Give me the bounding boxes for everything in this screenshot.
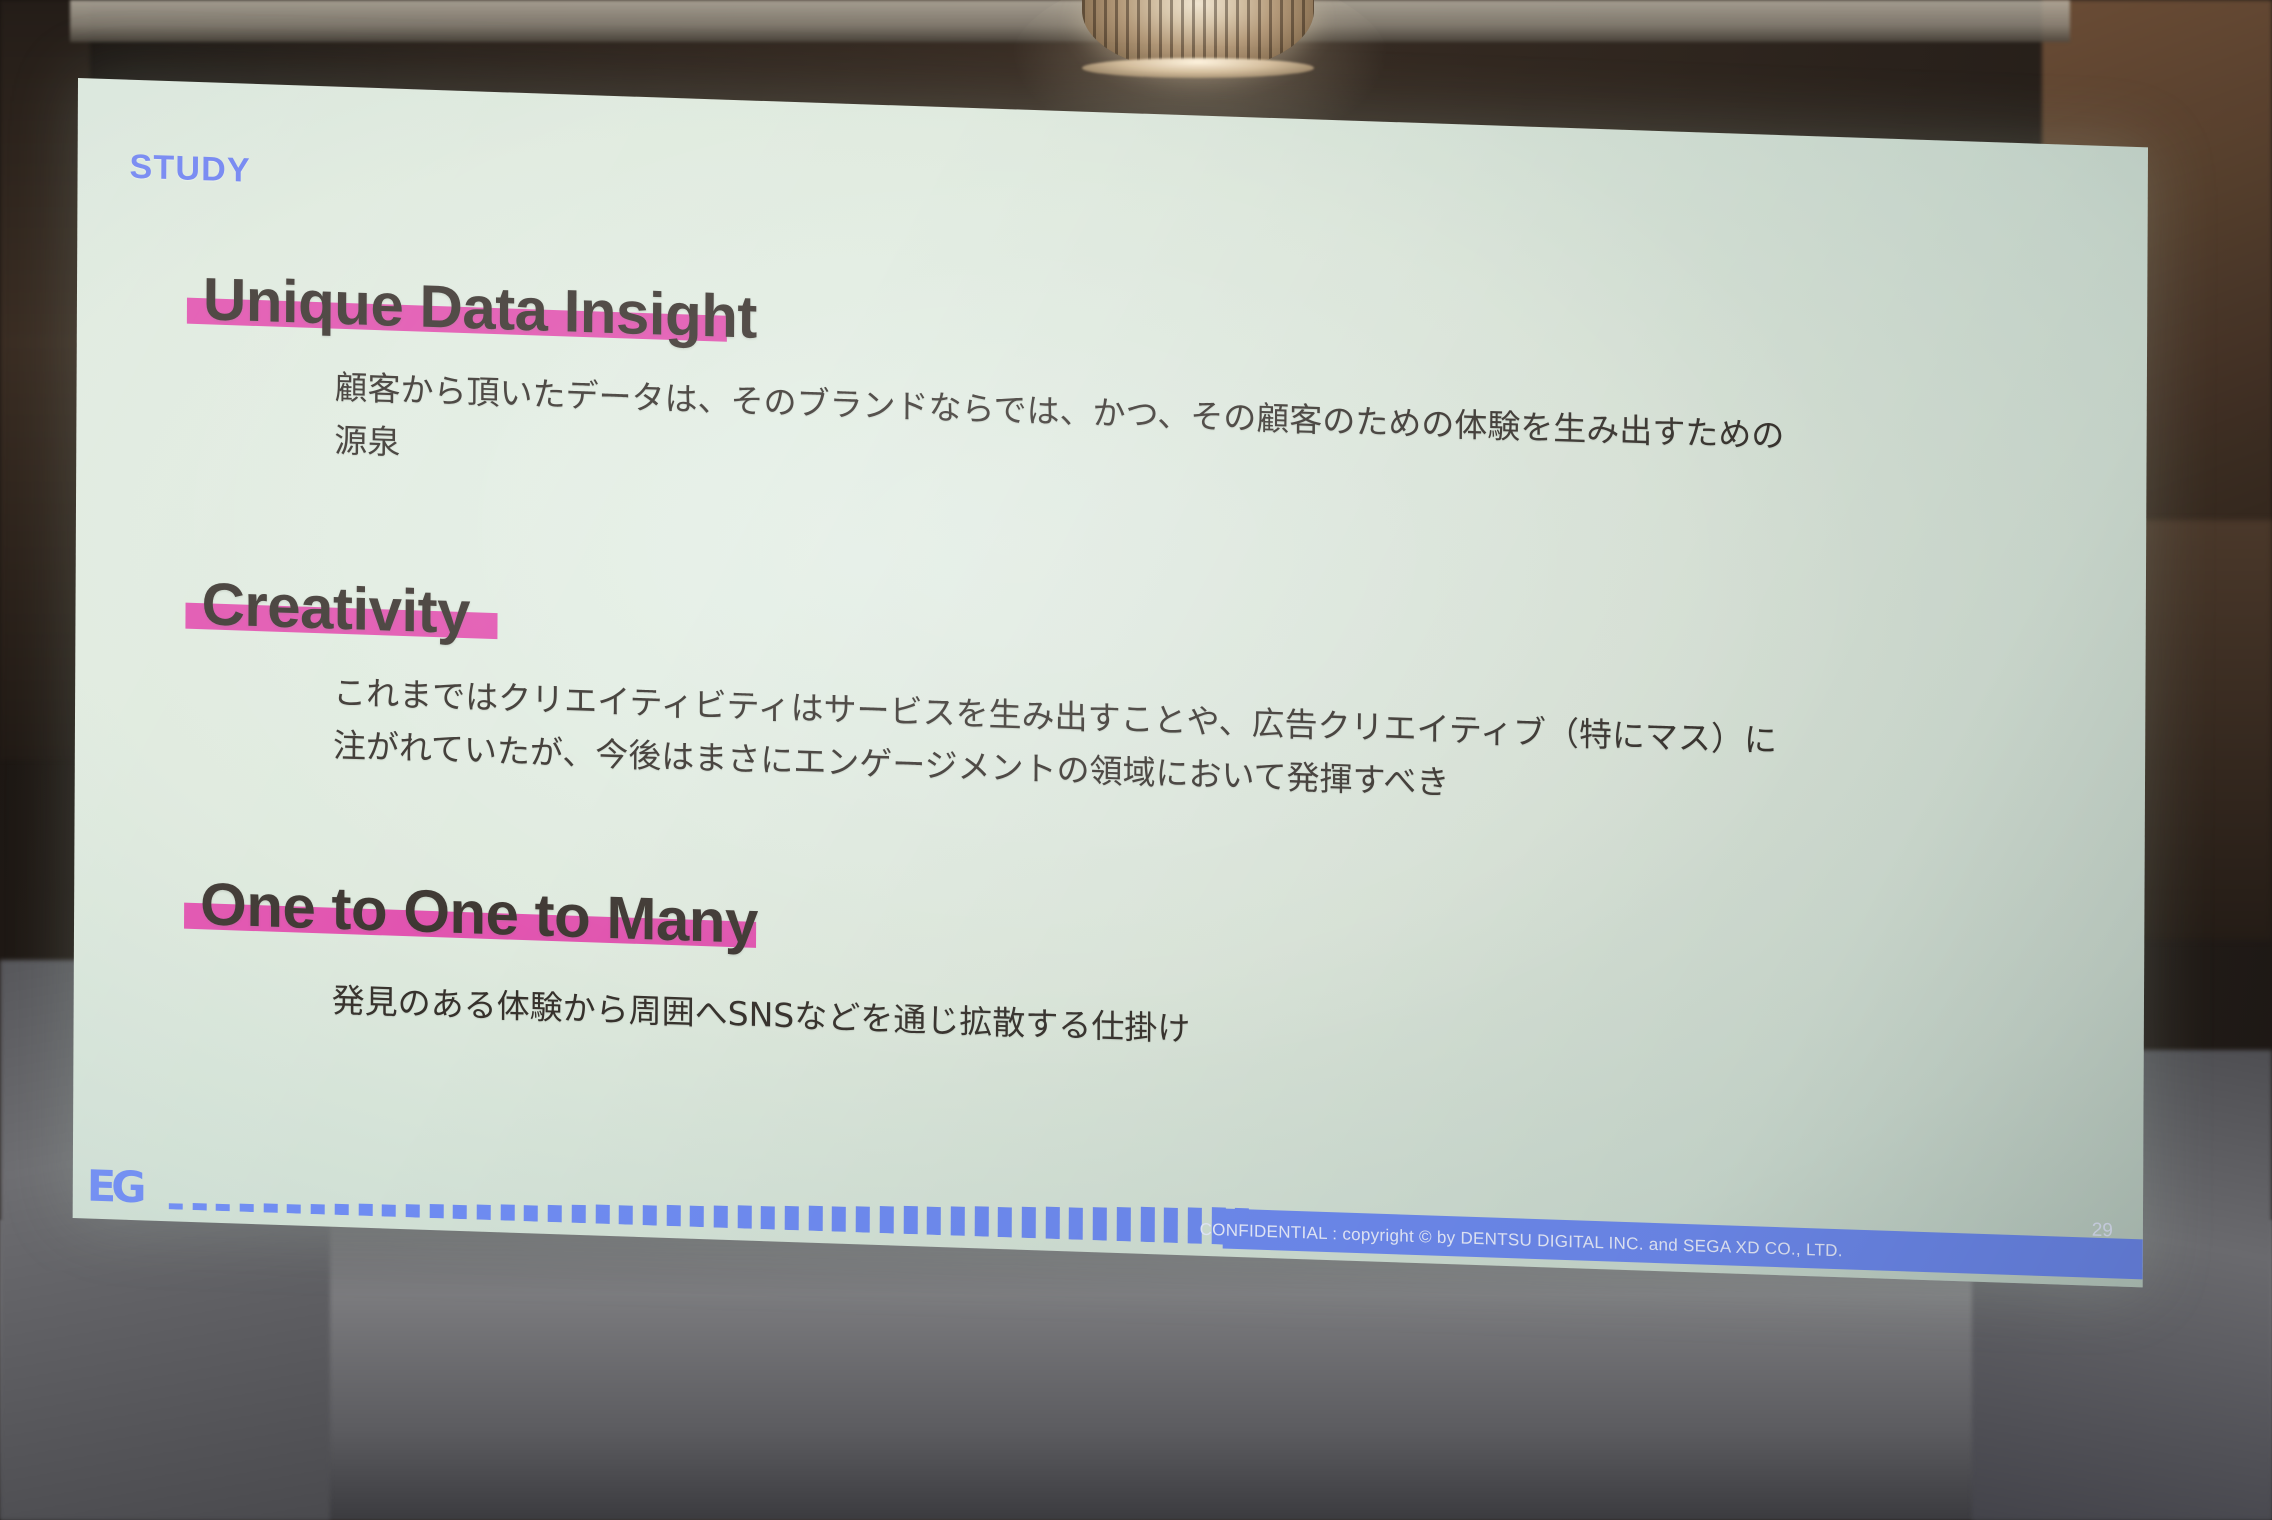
chevron-tick bbox=[714, 1205, 728, 1227]
projection-screen-area: STUDY Unique Data Insight 顧客から頂いたデータは、その… bbox=[0, 0, 2272, 1520]
slide-section-3: One to One to Many 発見のある体験から周囲へSNSなどを通じ拡… bbox=[74, 868, 2145, 1088]
chevron-tick bbox=[666, 1205, 680, 1226]
chevron-tick bbox=[1117, 1207, 1131, 1241]
section-3-heading: One to One to Many bbox=[200, 870, 758, 956]
chevron-tick bbox=[192, 1203, 206, 1210]
chevron-tick bbox=[927, 1206, 941, 1235]
chevron-tick bbox=[998, 1207, 1012, 1238]
section-3-heading-group: One to One to Many bbox=[200, 872, 758, 954]
section-3-body: 発見のある体験から周囲へSNSなどを通じ拡散する仕掛け bbox=[332, 974, 1782, 1076]
chevron-tick bbox=[429, 1204, 443, 1218]
section-1-heading: Unique Data Insight bbox=[203, 265, 757, 351]
slide-eyebrow-label: STUDY bbox=[129, 148, 250, 191]
slide-section-2: Creativity これまではクリエイティビティはサービスを生み出すことや、広… bbox=[75, 568, 2146, 833]
chevron-tick bbox=[1045, 1207, 1059, 1239]
section-2-body: これまではクリエイティビティはサービスを生み出すことや、広告クリエイティブ（特に… bbox=[333, 666, 1784, 821]
section-1-heading-group: Unique Data Insight bbox=[203, 267, 757, 349]
chevron-tick bbox=[500, 1205, 514, 1221]
chevron-tick bbox=[1069, 1207, 1083, 1240]
section-2-heading-group: Creativity bbox=[201, 572, 470, 644]
chevron-tick bbox=[169, 1203, 183, 1209]
chevron-tick bbox=[477, 1205, 491, 1221]
chevron-tick bbox=[287, 1204, 301, 1214]
chevron-tick bbox=[808, 1206, 822, 1231]
chevron-tick bbox=[1022, 1207, 1036, 1239]
chevron-tick bbox=[453, 1204, 467, 1219]
eg-logo: EG bbox=[87, 1160, 171, 1215]
slide-canvas: STUDY Unique Data Insight 顧客から頂いたデータは、その… bbox=[73, 78, 2148, 1287]
chevron-tick bbox=[903, 1206, 917, 1234]
chevron-tick bbox=[832, 1206, 846, 1232]
chevron-tick bbox=[382, 1204, 396, 1217]
chevron-pattern-decoration bbox=[169, 1171, 1259, 1246]
chevron-tick bbox=[690, 1205, 704, 1227]
chevron-tick bbox=[406, 1204, 420, 1217]
chevron-tick bbox=[311, 1204, 325, 1215]
chevron-tick bbox=[737, 1206, 751, 1229]
chevron-tick bbox=[595, 1205, 609, 1224]
chevron-tick bbox=[548, 1205, 562, 1223]
chevron-tick bbox=[1164, 1207, 1178, 1243]
chevron-tick bbox=[358, 1204, 372, 1216]
chevron-tick bbox=[216, 1203, 230, 1211]
section-2-heading: Creativity bbox=[201, 570, 470, 646]
chevron-tick bbox=[524, 1205, 538, 1222]
slide-footer: EG CONFIDENTIAL : copyright © by DENTSU … bbox=[73, 1132, 2143, 1287]
chevron-tick bbox=[1093, 1207, 1107, 1241]
chevron-tick bbox=[856, 1206, 870, 1233]
presentation-slide: STUDY Unique Data Insight 顧客から頂いたデータは、その… bbox=[73, 78, 2148, 1287]
chevron-tick bbox=[263, 1204, 277, 1213]
chevron-tick bbox=[1140, 1207, 1154, 1242]
chevron-tick bbox=[951, 1206, 965, 1235]
chevron-tick bbox=[785, 1206, 799, 1231]
chevron-tick bbox=[974, 1207, 988, 1237]
chevron-tick bbox=[761, 1206, 775, 1230]
page-number: 29 bbox=[2092, 1220, 2113, 1243]
chevron-tick bbox=[240, 1204, 254, 1213]
chevron-tick bbox=[572, 1205, 586, 1223]
section-1-body: 顧客から頂いたデータは、そのブランドならでは、かつ、その顧客のための体験を生み出… bbox=[334, 361, 1785, 516]
chevron-tick bbox=[880, 1206, 894, 1233]
chevron-tick bbox=[619, 1205, 633, 1225]
chevron-tick bbox=[643, 1205, 657, 1225]
chevron-tick bbox=[335, 1204, 349, 1215]
slide-section-1: Unique Data Insight 顧客から頂いたデータは、そのブランドなら… bbox=[76, 263, 2147, 528]
